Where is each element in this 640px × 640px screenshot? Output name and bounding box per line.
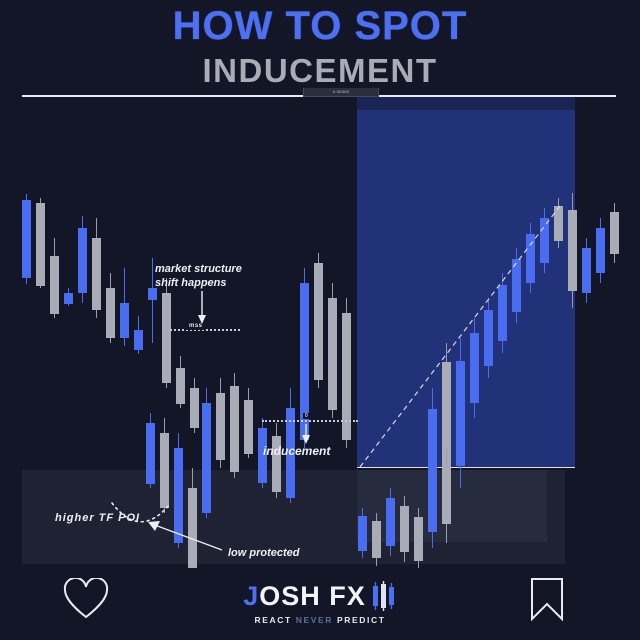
candle-body — [442, 362, 451, 450]
candle — [484, 298, 493, 378]
top-price-label-text: 0.00000 — [304, 88, 378, 95]
candle-body — [134, 330, 143, 350]
candle-body — [120, 303, 129, 338]
candle — [540, 208, 549, 273]
candle — [498, 273, 507, 353]
candle — [190, 378, 199, 433]
candle — [582, 238, 591, 303]
candle — [512, 248, 521, 323]
candle — [134, 316, 143, 354]
candlestick-logo-icon — [371, 582, 397, 610]
candle-body — [540, 218, 549, 264]
candle-body — [146, 423, 155, 484]
candle-body — [216, 393, 225, 460]
candle-body — [78, 228, 87, 293]
candle — [568, 193, 577, 308]
candle — [244, 388, 253, 458]
candle — [610, 203, 619, 263]
candle-body — [36, 203, 45, 286]
candle — [202, 388, 211, 518]
candle-body — [106, 288, 115, 338]
page-title: HOW TO SPOT — [0, 6, 640, 46]
candle-body — [176, 368, 185, 404]
candle — [188, 468, 197, 568]
selection-zone[interactable] — [357, 110, 575, 468]
candle-body — [498, 285, 507, 341]
candle-body — [50, 256, 59, 314]
candle — [342, 298, 351, 448]
candle — [162, 278, 171, 388]
candle — [526, 223, 535, 293]
bookmark-icon[interactable] — [527, 576, 567, 627]
candle-body — [358, 516, 367, 551]
candle — [64, 288, 73, 306]
candle-body — [314, 263, 323, 380]
mss-annotation-line1: market structure — [155, 263, 275, 277]
candle-body — [190, 388, 199, 428]
candle — [106, 273, 115, 343]
candle — [554, 198, 563, 248]
candle-wick — [152, 258, 153, 343]
candle-body — [582, 248, 591, 294]
inducement-annotation: inducement — [263, 444, 330, 458]
candle-body — [328, 298, 337, 410]
candle — [400, 496, 409, 562]
candle-body — [92, 238, 101, 310]
candle — [50, 238, 59, 318]
price-chart[interactable]: 0.00000 mss market structure shift happe… — [0, 88, 640, 568]
candle — [596, 218, 605, 283]
brand-rest: OSH FX — [259, 581, 366, 611]
candle-body — [188, 488, 197, 568]
candle — [216, 378, 225, 468]
candle — [372, 513, 381, 566]
mss-label: mss — [186, 322, 206, 330]
candle-body — [610, 212, 619, 254]
candle-body — [230, 386, 239, 472]
candle — [428, 388, 437, 528]
candle — [174, 433, 183, 548]
tagline-post: PREDICT — [337, 615, 386, 625]
candle-body — [512, 259, 521, 312]
candle-body — [244, 400, 253, 454]
candle — [442, 343, 451, 468]
candle — [470, 318, 479, 418]
candle-body — [400, 506, 409, 552]
candle — [230, 373, 239, 478]
top-price-label: 0.00000 — [303, 88, 379, 97]
candle-body — [526, 234, 535, 283]
candle — [176, 356, 185, 408]
candle-body — [64, 293, 73, 304]
candle-body — [162, 293, 171, 383]
page-subtitle: INDUCEMENT — [0, 54, 640, 87]
selection-zone-baseline — [357, 467, 575, 468]
candle — [146, 413, 155, 488]
candle — [386, 488, 395, 556]
low-protected-annotation: low protected — [228, 547, 300, 559]
candle — [272, 423, 281, 498]
candle-body — [202, 403, 211, 513]
candle — [456, 338, 465, 488]
candle-body — [22, 200, 31, 278]
candle — [358, 508, 367, 558]
candle — [78, 216, 87, 303]
candle-body — [456, 361, 465, 466]
inducement-level-line — [262, 420, 358, 422]
footer-bar: JOSH FX REACT NEVER PREDICT — [0, 568, 640, 640]
brand-initial: J — [243, 581, 259, 611]
candle-body — [428, 409, 437, 507]
selection-zone-header — [357, 97, 575, 110]
candle — [22, 194, 31, 284]
candle — [120, 268, 129, 346]
candle — [328, 283, 337, 418]
candle — [92, 218, 101, 318]
candle-body — [160, 433, 169, 508]
brand-name: JOSH FX — [243, 583, 366, 610]
candle-body — [596, 228, 605, 274]
candle-body — [174, 448, 183, 543]
candle — [36, 198, 45, 288]
candle-body — [568, 210, 577, 291]
inducement-level-label: 0 — [303, 413, 310, 419]
candle-body — [554, 206, 563, 241]
candle-body — [484, 310, 493, 366]
candle-body — [470, 333, 479, 403]
candle-body — [414, 517, 423, 560]
mss-annotation-line2: shift happens — [155, 277, 275, 291]
candle — [414, 508, 423, 568]
post-canvas: HOW TO SPOT INDUCEMENT 0.00000 mss marke… — [0, 0, 640, 640]
poi-annotation: higher TF POI — [55, 512, 140, 524]
candle-body — [372, 521, 381, 558]
candle — [314, 253, 323, 388]
mss-annotation: market structure shift happens — [155, 263, 275, 291]
title-block: HOW TO SPOT INDUCEMENT — [0, 0, 640, 87]
candle — [160, 418, 169, 513]
candle-body — [386, 498, 395, 546]
tagline-mid: NEVER — [296, 615, 333, 625]
tagline-pre: REACT — [254, 615, 291, 625]
